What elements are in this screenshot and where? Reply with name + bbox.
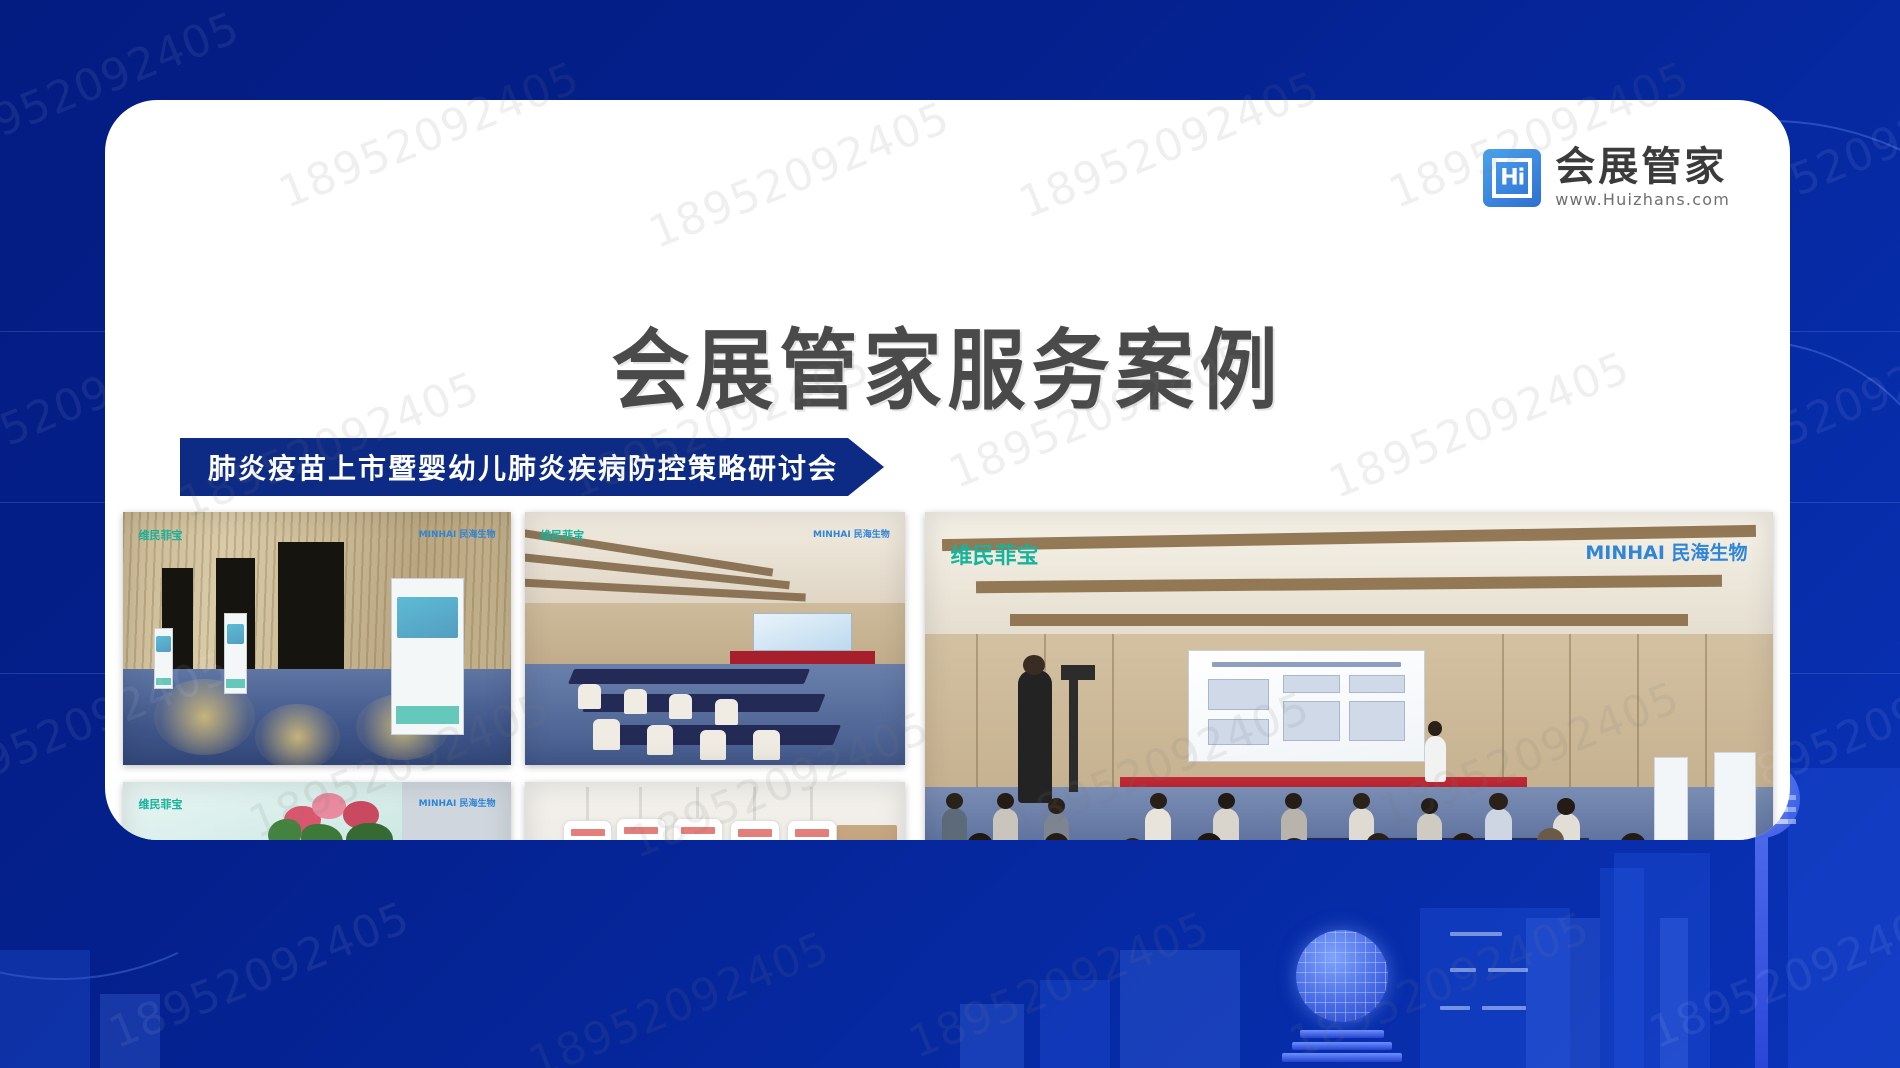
photo1-brand-left: 维民菲宝	[139, 527, 183, 543]
photo-venue-entrance[interactable]: 维民菲宝 MINHAI 民海生物	[123, 512, 511, 765]
photo1-brand-right: MINHAI 民海生物	[419, 527, 496, 540]
photo3-brand-left: 维民菲宝	[139, 796, 183, 812]
photo2-brand-right: MINHAI 民海生物	[813, 527, 890, 540]
logo-initials: Hi	[1500, 165, 1524, 190]
logo-brand-name: 会展管家	[1555, 146, 1730, 188]
photo-exhibition-boards[interactable]	[525, 782, 905, 840]
page-title: 会展管家服务案例	[105, 301, 1790, 426]
photo3-brand-right: MINHAI 民海生物	[419, 796, 496, 809]
photo2-brand-left: 维民菲宝	[540, 527, 584, 543]
section-banner-label: 肺炎疫苗上市暨婴幼儿肺炎疾病防控策略研讨会	[208, 447, 838, 487]
photo-stage-standee[interactable]: 维民菲宝 MINHAI 民海生物	[123, 782, 511, 840]
photo5-brand-left: 维民菲宝	[950, 538, 1038, 570]
photo-main-session[interactable]: 维民菲宝 MINHAI 民海生物	[925, 512, 1773, 840]
section-banner: 肺炎疫苗上市暨婴幼儿肺炎疾病防控策略研讨会	[180, 438, 884, 496]
brand-logo[interactable]: Hi 会展管家 www.Huizhans.com	[1483, 146, 1730, 209]
logo-url: www.Huizhans.com	[1555, 190, 1730, 209]
content-card: Hi 会展管家 www.Huizhans.com 会展管家服务案例 肺炎疫苗上市…	[105, 100, 1790, 840]
huizhans-logo-icon: Hi	[1483, 149, 1541, 207]
photo5-brand-right: MINHAI 民海生物	[1585, 538, 1747, 565]
photo-empty-hall[interactable]: 维民菲宝 MINHAI 民海生物	[525, 512, 905, 765]
